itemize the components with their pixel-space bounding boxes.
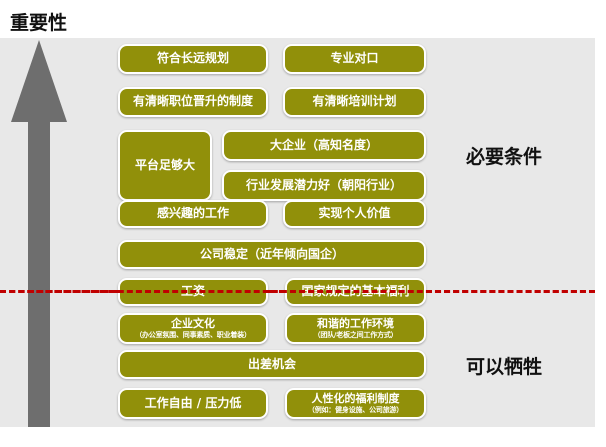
criteria-card-title: 大企业（高知名度） [270,139,378,153]
criteria-card-corporate-culture[interactable]: 企业文化（办公室氛围、同事素质、职业着装） [118,313,268,344]
priority-divider-segment-middle [268,290,285,293]
criteria-card-personal-value[interactable]: 实现个人价值 [283,200,426,228]
criteria-card-subtitle: （办公室氛围、同事素质、职业着装） [135,331,251,339]
criteria-card-industry-potential[interactable]: 行业发展潜力好（朝阳行业） [222,170,426,201]
priority-divider-segment-left [0,290,118,293]
criteria-card-title: 工作自由 / 压力低 [145,397,242,411]
criteria-card-title: 行业发展潜力好（朝阳行业） [246,179,402,193]
criteria-card-title: 人性化的福利制度 [312,393,400,406]
criteria-card-title: 平台足够大 [135,159,195,173]
criteria-card-company-stability[interactable]: 公司稳定（近年倾向国企） [118,240,426,269]
section-label-required: 必要条件 [466,142,542,169]
criteria-card-big-platform[interactable]: 平台足够大 [118,130,212,201]
criteria-card-title: 有清晰培训计划 [312,95,396,109]
up-arrow-icon [10,40,68,427]
section-label-sacrifice: 可以牺牲 [466,352,542,379]
criteria-card-travel-opportunity[interactable]: 出差机会 [118,350,426,379]
criteria-card-title: 符合长远规划 [157,52,229,66]
criteria-card-title: 感兴趣的工作 [157,207,229,221]
criteria-card-title: 和谐的工作环境 [317,318,394,331]
criteria-card-major-match[interactable]: 专业对口 [283,44,426,74]
criteria-card-promotion-system[interactable]: 有清晰职位晋升的制度 [118,87,268,117]
criteria-card-training-plan[interactable]: 有清晰培训计划 [283,87,426,117]
criteria-card-title: 专业对口 [330,52,378,66]
criteria-card-interesting-work[interactable]: 感兴趣的工作 [118,200,268,228]
criteria-card-large-company[interactable]: 大企业（高知名度） [222,130,426,161]
criteria-card-humane-benefits[interactable]: 人性化的福利制度（例如：健身设施、公司旅游） [285,388,426,419]
criteria-card-title: 企业文化 [171,318,215,331]
criteria-card-title: 有清晰职位晋升的制度 [133,95,253,109]
criteria-card-title: 出差机会 [248,358,296,372]
criteria-card-subtitle: （例如：健身设施、公司旅游） [308,406,403,414]
criteria-card-title: 实现个人价值 [318,207,390,221]
importance-axis-title: 重要性 [10,8,67,35]
criteria-card-title: 公司稳定（近年倾向国企） [200,248,344,262]
criteria-card-subtitle: （团队/老板之间工作方式） [314,331,398,339]
priority-divider-segment-right [426,290,595,293]
criteria-card-work-environment[interactable]: 和谐的工作环境（团队/老板之间工作方式） [285,313,426,344]
criteria-card-freedom-low-stress[interactable]: 工作自由 / 压力低 [118,388,268,419]
criteria-card-long-term-plan[interactable]: 符合长远规划 [118,44,268,74]
